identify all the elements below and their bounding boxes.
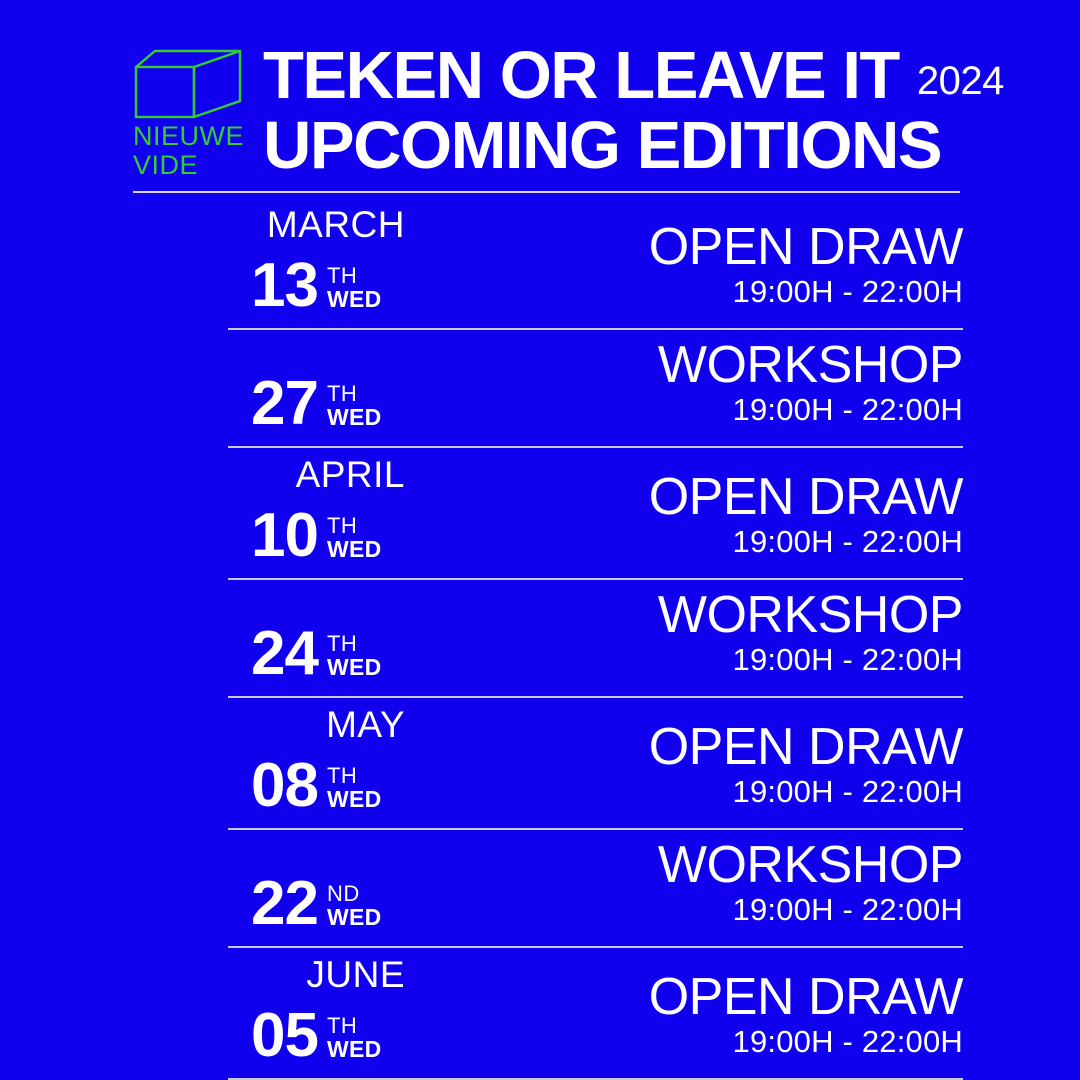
day-group: 24THWED	[251, 627, 382, 680]
day-group: 08THWED	[251, 759, 382, 812]
event-inner: OPEN DRAW19:00H - 22:00H	[649, 471, 963, 560]
day-suffix-group: THWED	[327, 514, 382, 562]
event-title: WORKSHOP	[658, 839, 963, 891]
day-ordinal: TH	[327, 514, 382, 537]
day-ordinal: ND	[327, 882, 382, 905]
event-title: WORKSHOP	[658, 589, 963, 641]
event-time: 19:00H - 22:00H	[658, 642, 963, 678]
month-label: JUNE	[133, 956, 405, 993]
title-block: TEKEN OR LEAVE IT 2024 UPCOMING EDITIONS	[245, 42, 1004, 179]
nieuwe-vide-cube-icon	[133, 48, 243, 120]
schedule-row[interactable]: 24THWEDWORKSHOP19:00H - 22:00H	[133, 580, 963, 698]
brand-name-line1: NIEUWE	[133, 124, 245, 149]
event-inner: OPEN DRAW19:00H - 22:00H	[649, 971, 963, 1060]
day-number: 27	[251, 377, 318, 430]
date-column: 24THWED	[133, 580, 513, 698]
event-time: 19:00H - 22:00H	[649, 1024, 963, 1060]
day-group: 22NDWED	[251, 877, 382, 930]
event-title: OPEN DRAW	[649, 971, 963, 1023]
schedule-row[interactable]: MARCH13THWEDOPEN DRAW19:00H - 22:00H	[133, 198, 963, 330]
event-column: WORKSHOP19:00H - 22:00H	[513, 830, 963, 948]
date-column: 27THWED	[133, 330, 513, 448]
day-number: 05	[251, 1009, 318, 1062]
day-ordinal: TH	[327, 764, 382, 787]
brand-logo: NIEUWE VIDE	[133, 42, 245, 179]
weekday-label: WED	[327, 1037, 382, 1061]
schedule-row[interactable]: APRIL10THWEDOPEN DRAW19:00H - 22:00H	[133, 448, 963, 580]
day-number: 22	[251, 877, 318, 930]
date-column: MARCH13THWED	[133, 198, 513, 330]
weekday-label: WED	[327, 655, 382, 679]
day-suffix-group: THWED	[327, 264, 382, 312]
day-group: 05THWED	[251, 1009, 382, 1062]
date-column: MAY08THWED	[133, 698, 513, 830]
title-line-1: TEKEN OR LEAVE IT 2024	[263, 44, 1004, 108]
event-inner: OPEN DRAW19:00H - 22:00H	[649, 221, 963, 310]
weekday-label: WED	[327, 537, 382, 561]
event-column: OPEN DRAW19:00H - 22:00H	[513, 448, 963, 580]
day-group: 10THWED	[251, 509, 382, 562]
day-number: 10	[251, 509, 318, 562]
schedule-row-inner: 27THWEDWORKSHOP19:00H - 22:00H	[133, 330, 963, 448]
schedule-row-inner: 22NDWEDWORKSHOP19:00H - 22:00H	[133, 830, 963, 948]
schedule-list: MARCH13THWEDOPEN DRAW19:00H - 22:00H27TH…	[133, 198, 963, 1080]
schedule-row-inner: MARCH13THWEDOPEN DRAW19:00H - 22:00H	[133, 198, 963, 330]
day-ordinal: TH	[327, 632, 382, 655]
day-suffix-group: NDWED	[327, 882, 382, 930]
poster-canvas: NIEUWE VIDE TEKEN OR LEAVE IT 2024 UPCOM…	[0, 0, 1080, 1080]
day-suffix-group: THWED	[327, 764, 382, 812]
event-inner: WORKSHOP19:00H - 22:00H	[658, 589, 963, 678]
schedule-row[interactable]: JUNE05THWEDOPEN DRAW19:00H - 22:00H	[133, 948, 963, 1080]
date-column: 22NDWED	[133, 830, 513, 948]
event-inner: OPEN DRAW19:00H - 22:00H	[649, 721, 963, 810]
schedule-row-inner: APRIL10THWEDOPEN DRAW19:00H - 22:00H	[133, 448, 963, 580]
event-time: 19:00H - 22:00H	[649, 274, 963, 310]
day-suffix-group: THWED	[327, 382, 382, 430]
date-column: APRIL10THWED	[133, 448, 513, 580]
event-inner: WORKSHOP19:00H - 22:00H	[658, 839, 963, 928]
event-column: OPEN DRAW19:00H - 22:00H	[513, 698, 963, 830]
brand-name-line2: VIDE	[133, 153, 245, 178]
day-number: 24	[251, 627, 318, 680]
event-title: OPEN DRAW	[649, 721, 963, 773]
event-title: WORKSHOP	[658, 339, 963, 391]
schedule-row-inner: 24THWEDWORKSHOP19:00H - 22:00H	[133, 580, 963, 698]
day-ordinal: TH	[327, 264, 382, 287]
day-group: 13THWED	[251, 259, 382, 312]
day-ordinal: TH	[327, 382, 382, 405]
schedule-row[interactable]: 27THWEDWORKSHOP19:00H - 22:00H	[133, 330, 963, 448]
day-suffix-group: THWED	[327, 1014, 382, 1062]
event-column: OPEN DRAW19:00H - 22:00H	[513, 948, 963, 1080]
event-time: 19:00H - 22:00H	[658, 392, 963, 428]
event-column: OPEN DRAW19:00H - 22:00H	[513, 198, 963, 330]
day-ordinal: TH	[327, 1014, 382, 1037]
schedule-row[interactable]: 22NDWEDWORKSHOP19:00H - 22:00H	[133, 830, 963, 948]
date-column: JUNE05THWED	[133, 948, 513, 1080]
weekday-label: WED	[327, 905, 382, 929]
poster-header: NIEUWE VIDE TEKEN OR LEAVE IT 2024 UPCOM…	[133, 42, 963, 172]
page-title: TEKEN OR LEAVE IT	[263, 44, 899, 108]
weekday-label: WED	[327, 287, 382, 311]
schedule-row-inner: JUNE05THWEDOPEN DRAW19:00H - 22:00H	[133, 948, 963, 1080]
event-time: 19:00H - 22:00H	[658, 892, 963, 928]
day-number: 08	[251, 759, 318, 812]
month-label: APRIL	[133, 456, 405, 493]
event-time: 19:00H - 22:00H	[649, 774, 963, 810]
event-title: OPEN DRAW	[649, 471, 963, 523]
schedule-row-inner: MAY08THWEDOPEN DRAW19:00H - 22:00H	[133, 698, 963, 830]
month-label: MARCH	[133, 206, 405, 243]
schedule-row[interactable]: MAY08THWEDOPEN DRAW19:00H - 22:00H	[133, 698, 963, 830]
event-title: OPEN DRAW	[649, 221, 963, 273]
header-divider	[133, 191, 960, 193]
day-suffix-group: THWED	[327, 632, 382, 680]
month-label: MAY	[133, 706, 405, 743]
page-subtitle: UPCOMING EDITIONS	[263, 114, 1004, 178]
event-column: WORKSHOP19:00H - 22:00H	[513, 330, 963, 448]
weekday-label: WED	[327, 405, 382, 429]
event-time: 19:00H - 22:00H	[649, 524, 963, 560]
day-group: 27THWED	[251, 377, 382, 430]
weekday-label: WED	[327, 787, 382, 811]
day-number: 13	[251, 259, 318, 312]
event-column: WORKSHOP19:00H - 22:00H	[513, 580, 963, 698]
year-label: 2024	[917, 61, 1004, 101]
event-inner: WORKSHOP19:00H - 22:00H	[658, 339, 963, 428]
